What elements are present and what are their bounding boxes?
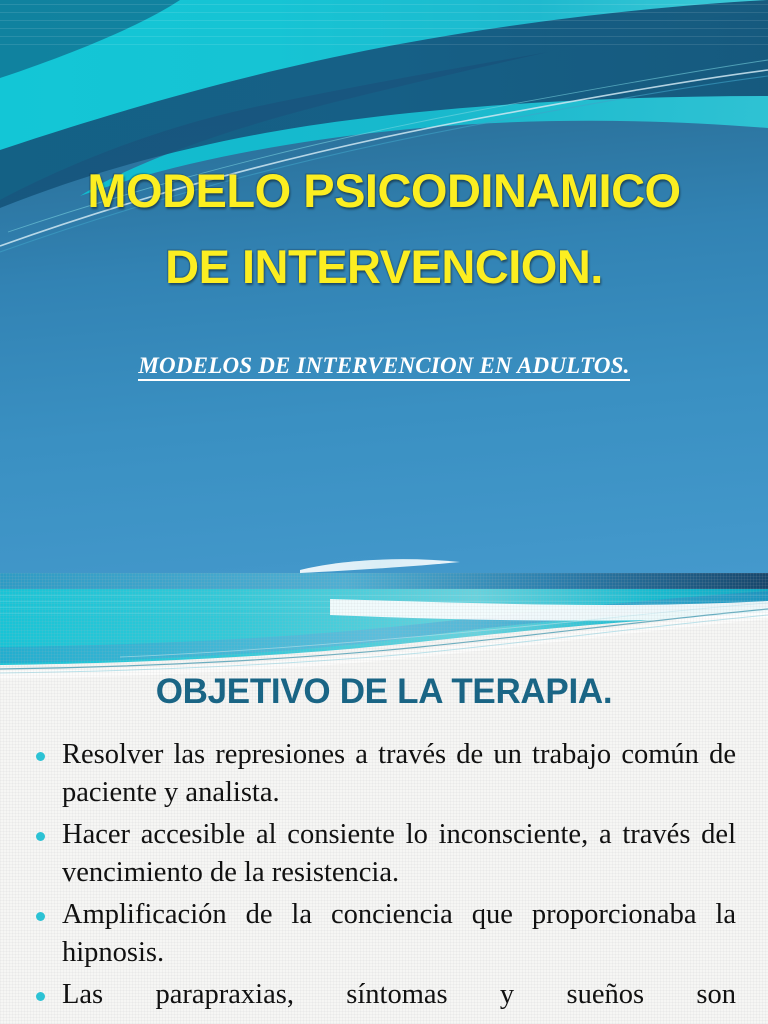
- list-item-text: Las parapraxias, síntomas y sueños son: [62, 976, 736, 1024]
- slide1-subtitle-text: MODELOS DE INTERVENCION EN ADULTOS.: [138, 353, 629, 381]
- slide2-wave-header-graphic: [0, 573, 768, 683]
- objectives-bullet-list: Resolver las represiones a través de un …: [36, 736, 736, 1024]
- list-item-text: Resolver las represiones a través de un …: [62, 736, 736, 812]
- list-item: Resolver las represiones a través de un …: [36, 736, 736, 812]
- slide-content-page: OBJETIVO DE LA TERAPIA. Resolver las rep…: [0, 573, 768, 1024]
- slide1-title: MODELO PSICODINAMICO DE INTERVENCION.: [0, 153, 768, 305]
- list-item: Hacer accesible al consiente lo inconsci…: [36, 816, 736, 892]
- bullet-dot-icon: [36, 752, 45, 761]
- list-item: Amplificación de la conciencia que propo…: [36, 896, 736, 972]
- bullet-dot-icon: [36, 912, 45, 921]
- bullet-dot-icon: [36, 992, 45, 1001]
- slide-title-page: MODELO PSICODINAMICO DE INTERVENCION. MO…: [0, 0, 768, 573]
- bullet-dot-icon: [36, 832, 45, 841]
- slide2-title: OBJETIVO DE LA TERAPIA.: [0, 672, 768, 712]
- list-item: Las parapraxias, síntomas y sueños son: [36, 976, 736, 1024]
- list-item-text: Amplificación de la conciencia que propo…: [62, 896, 736, 972]
- slide1-subtitle: MODELOS DE INTERVENCION EN ADULTOS.: [0, 353, 768, 379]
- list-item-text: Hacer accesible al consiente lo inconsci…: [62, 816, 736, 892]
- presentation-deck: MODELO PSICODINAMICO DE INTERVENCION. MO…: [0, 0, 768, 1024]
